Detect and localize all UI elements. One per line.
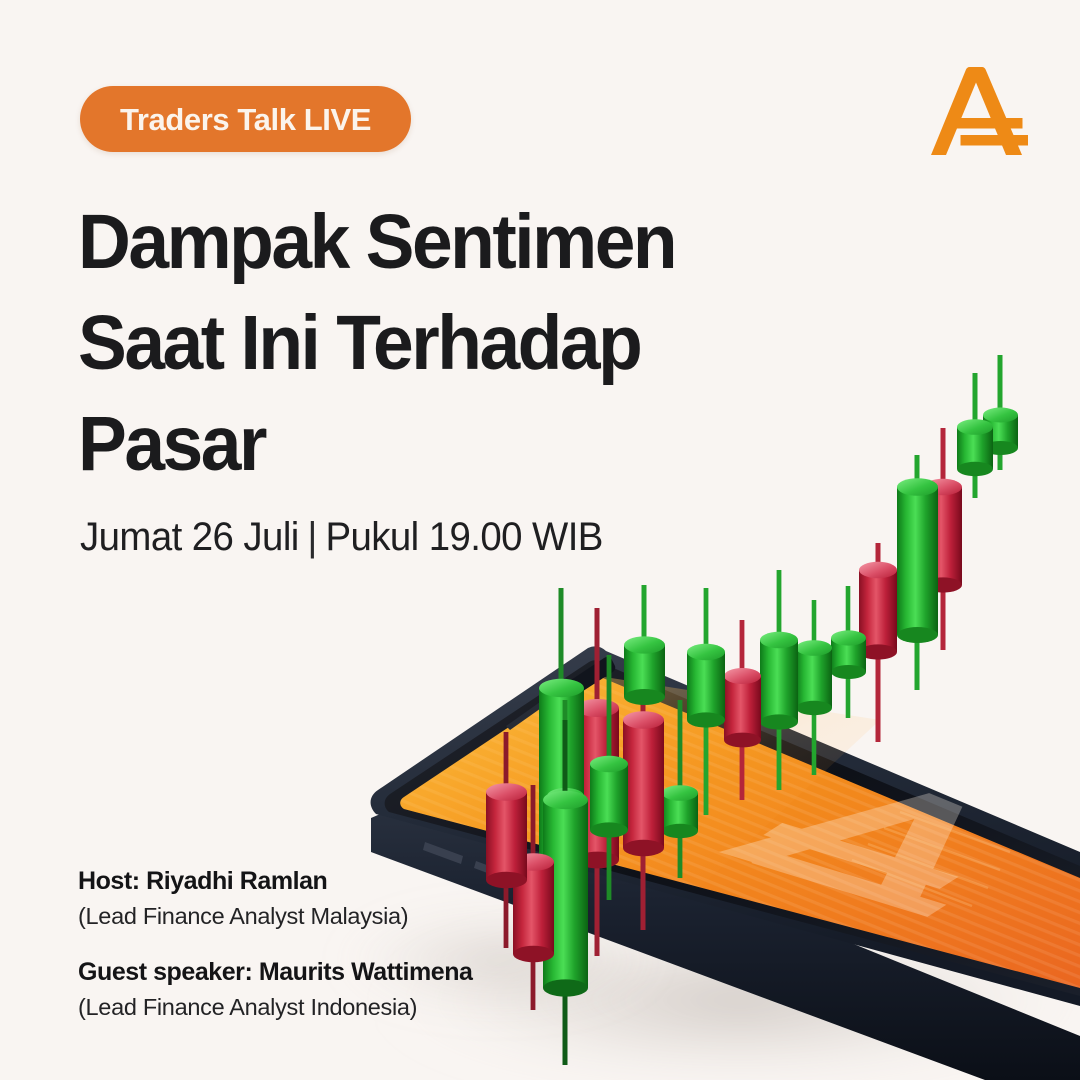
guest-role: (Lead Finance Analyst Indonesia) [78, 992, 473, 1023]
live-badge[interactable]: Traders Talk LIVE [80, 86, 411, 152]
headline-line-3: Pasar [78, 394, 762, 495]
candle-19 [957, 373, 993, 498]
host-role: (Lead Finance Analyst Malaysia) [78, 901, 473, 932]
brand-a-logo [930, 63, 1028, 160]
headline-line-1: Dampak Sentimen [78, 192, 762, 293]
credit-guest: Guest speaker: Maurits Wattimena (Lead F… [78, 957, 473, 1022]
host-name: Host: Riyadhi Ramlan [78, 866, 473, 897]
credit-host: Host: Riyadhi Ramlan (Lead Finance Analy… [78, 866, 473, 931]
headline-line-2: Saat Ini Terhadap [78, 293, 762, 394]
event-date: Jumat 26 Juli [80, 515, 299, 559]
candle-17 [897, 455, 938, 690]
event-schedule: Jumat 26 Juli|Pukul 19.00 WIB [80, 513, 603, 561]
page-title: Dampak Sentimen Saat Ini Terhadap Pasar [78, 192, 798, 495]
live-badge-label: Traders Talk LIVE [120, 104, 371, 135]
candle-7 [624, 585, 665, 705]
speaker-credits: Host: Riyadhi Ramlan (Lead Finance Analy… [78, 866, 473, 1022]
schedule-separator: | [307, 513, 316, 561]
event-time: Pukul 19.00 WIB [325, 515, 602, 559]
poster-canvas: Traders Talk LIVE Dampak Sentimen Saat I… [0, 0, 1080, 1080]
guest-name: Guest speaker: Maurits Wattimena [78, 957, 473, 988]
